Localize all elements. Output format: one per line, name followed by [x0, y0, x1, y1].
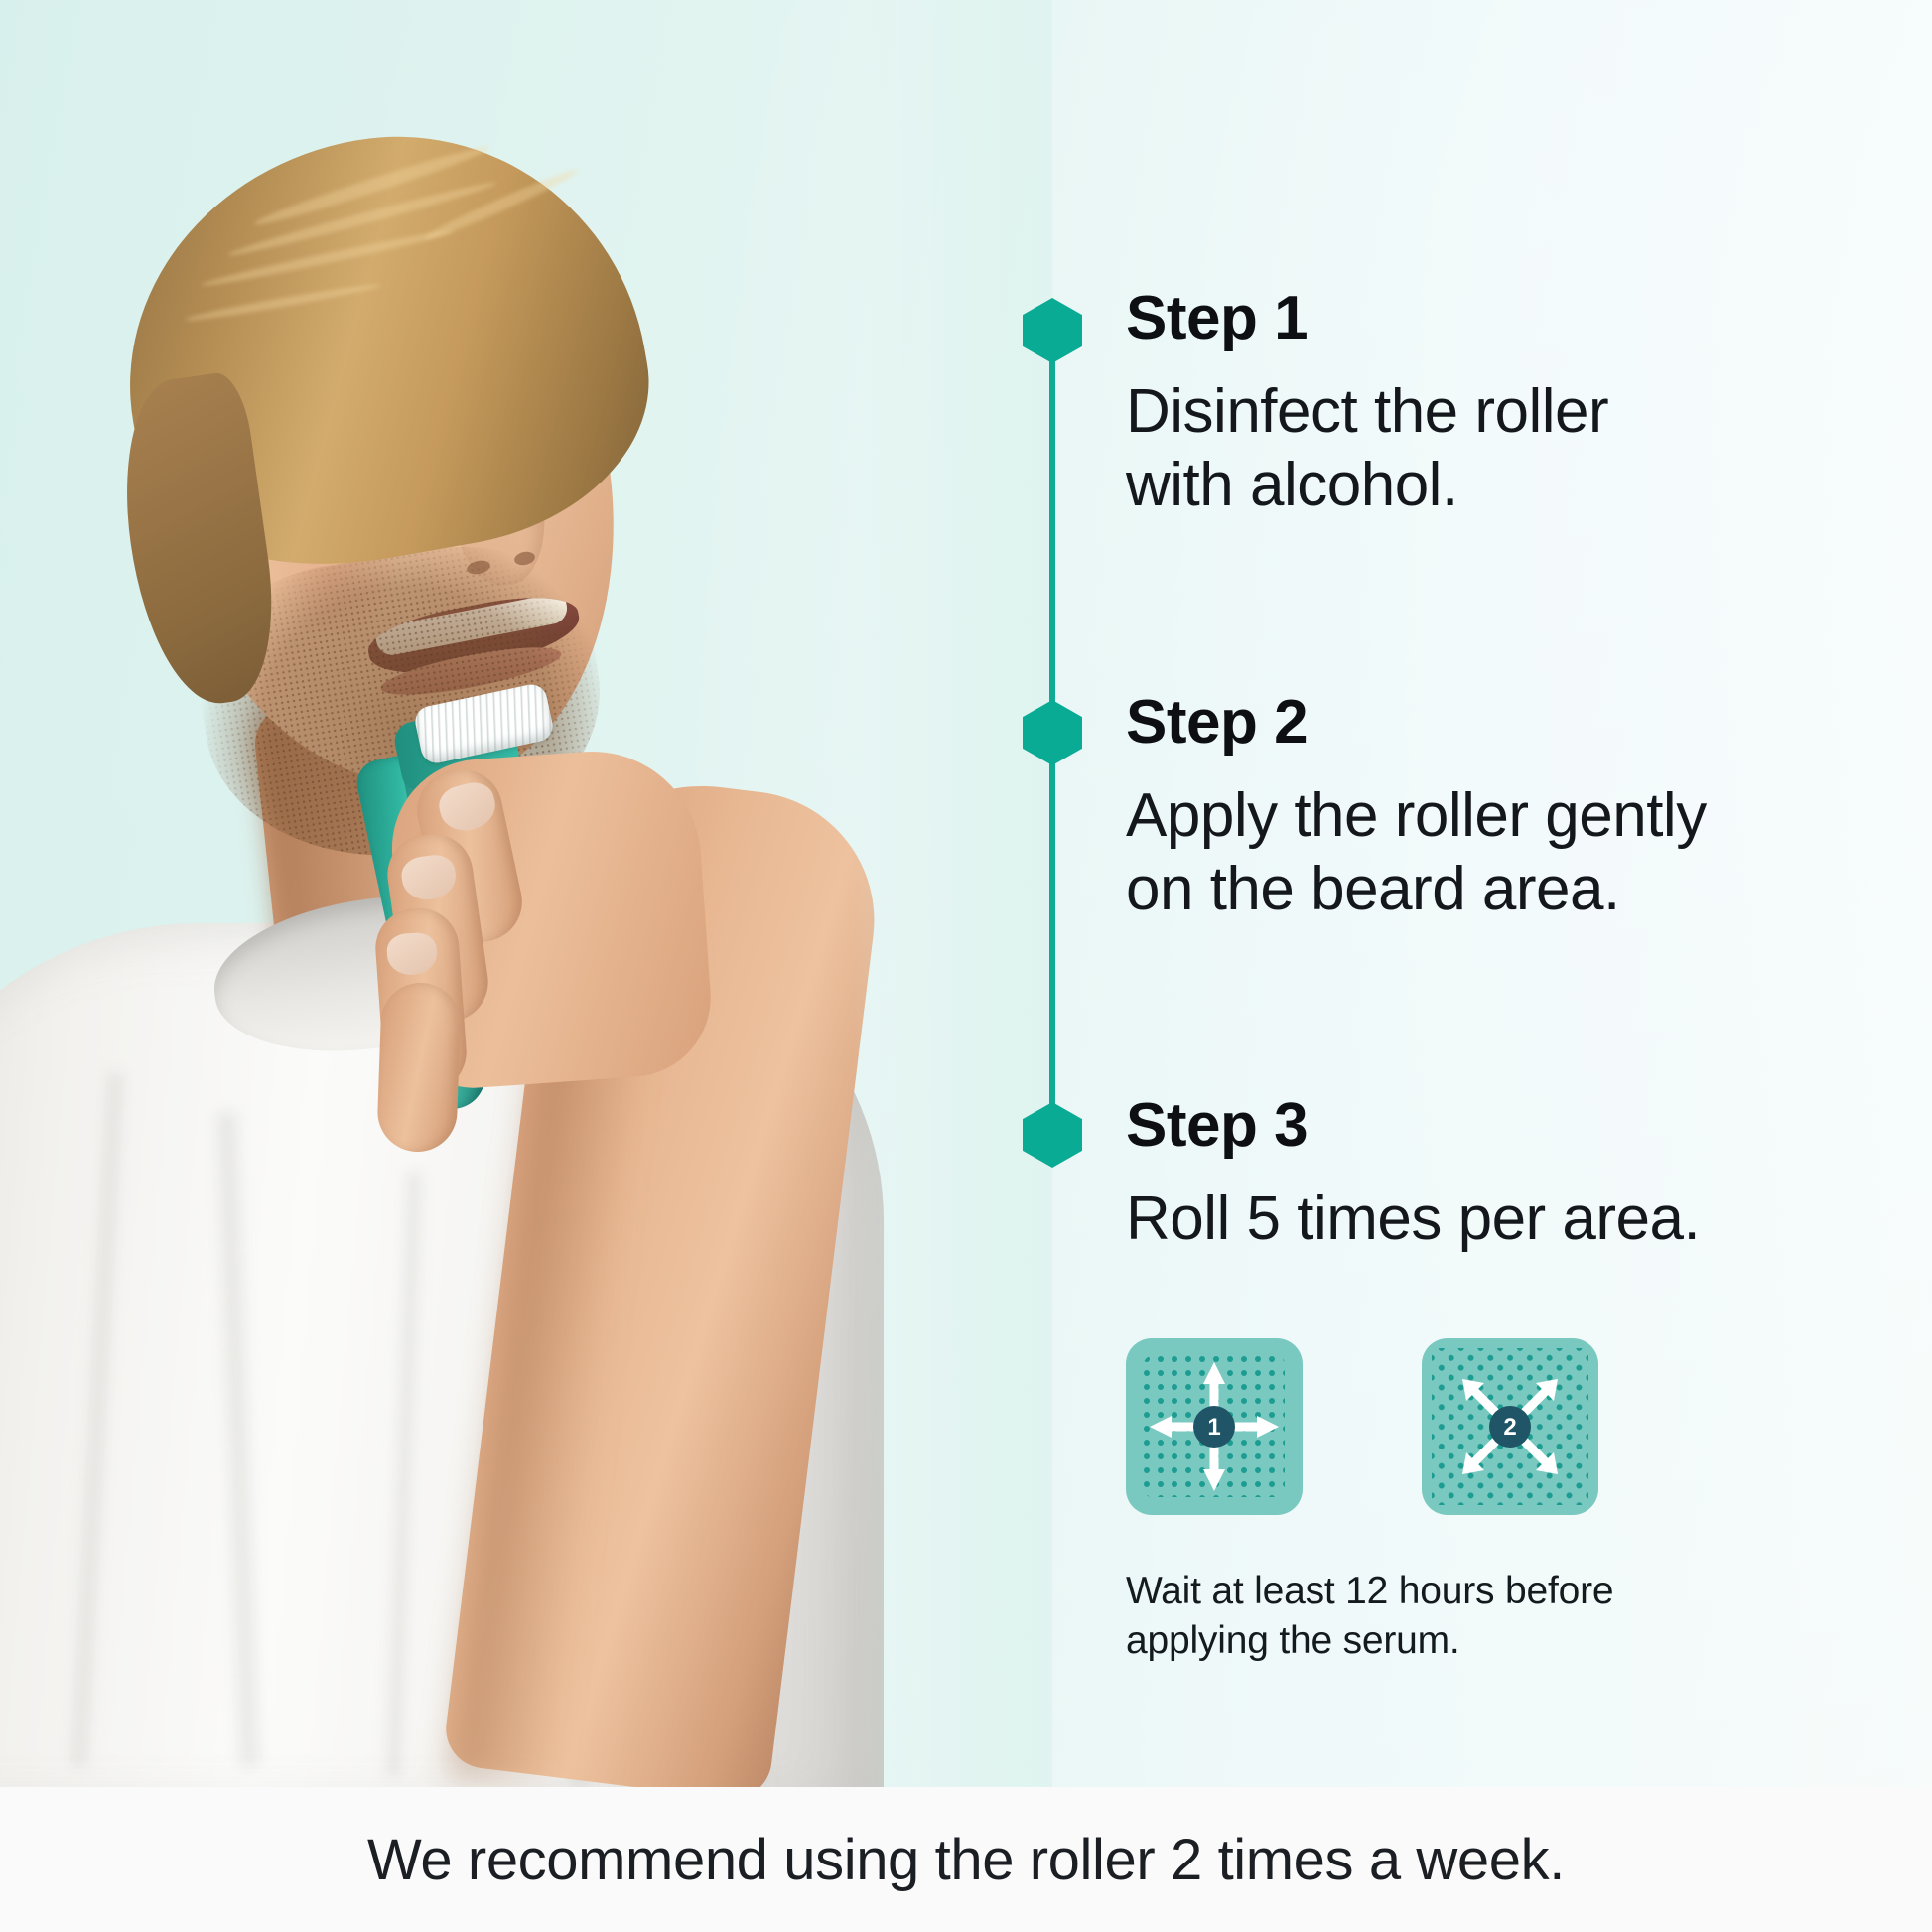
cross-arrows-grid-icon: 1 [1126, 1338, 1303, 1515]
step-3-title: Step 3 [1126, 1095, 1900, 1157]
step-3-body: Roll 5 times per area. [1126, 1182, 1900, 1256]
step-marker-3-icon [1023, 1102, 1082, 1168]
step-1: Step 1 Disinfect the roller with alcohol… [1126, 288, 1900, 523]
step-1-body: Disinfect the roller with alcohol. [1126, 375, 1900, 523]
recommendation-banner: We recommend using the roller 2 times a … [0, 1787, 1932, 1932]
infographic-canvas: Step 1 Disinfect the roller with alcohol… [0, 0, 1932, 1932]
roll-pattern-card-2: 2 [1422, 1338, 1598, 1515]
wait-notice: Wait at least 12 hours before applying t… [1126, 1567, 1682, 1666]
step-marker-2-icon [1023, 700, 1082, 765]
step-3: Step 3 Roll 5 times per area. [1126, 1095, 1900, 1256]
recommendation-text: We recommend using the roller 2 times a … [367, 1827, 1565, 1893]
step-marker-1-icon [1023, 298, 1082, 363]
steps-panel: Step 1 Disinfect the roller with alcohol… [1023, 0, 1932, 1787]
roll-pattern-card-1: 1 [1126, 1338, 1303, 1515]
product-photo [0, 0, 1052, 1787]
roll-pattern-cards: 1 [1126, 1338, 1821, 1527]
step-2-title: Step 2 [1126, 692, 1900, 754]
step-1-title: Step 1 [1126, 288, 1900, 349]
card-2-badge: 2 [1503, 1414, 1516, 1441]
step-2-body: Apply the roller gently on the beard are… [1126, 779, 1900, 927]
step-2: Step 2 Apply the roller gently on the be… [1126, 692, 1900, 927]
card-1-badge: 1 [1207, 1414, 1220, 1441]
diagonal-arrows-grid-icon: 2 [1422, 1338, 1598, 1515]
finger [376, 982, 462, 1154]
